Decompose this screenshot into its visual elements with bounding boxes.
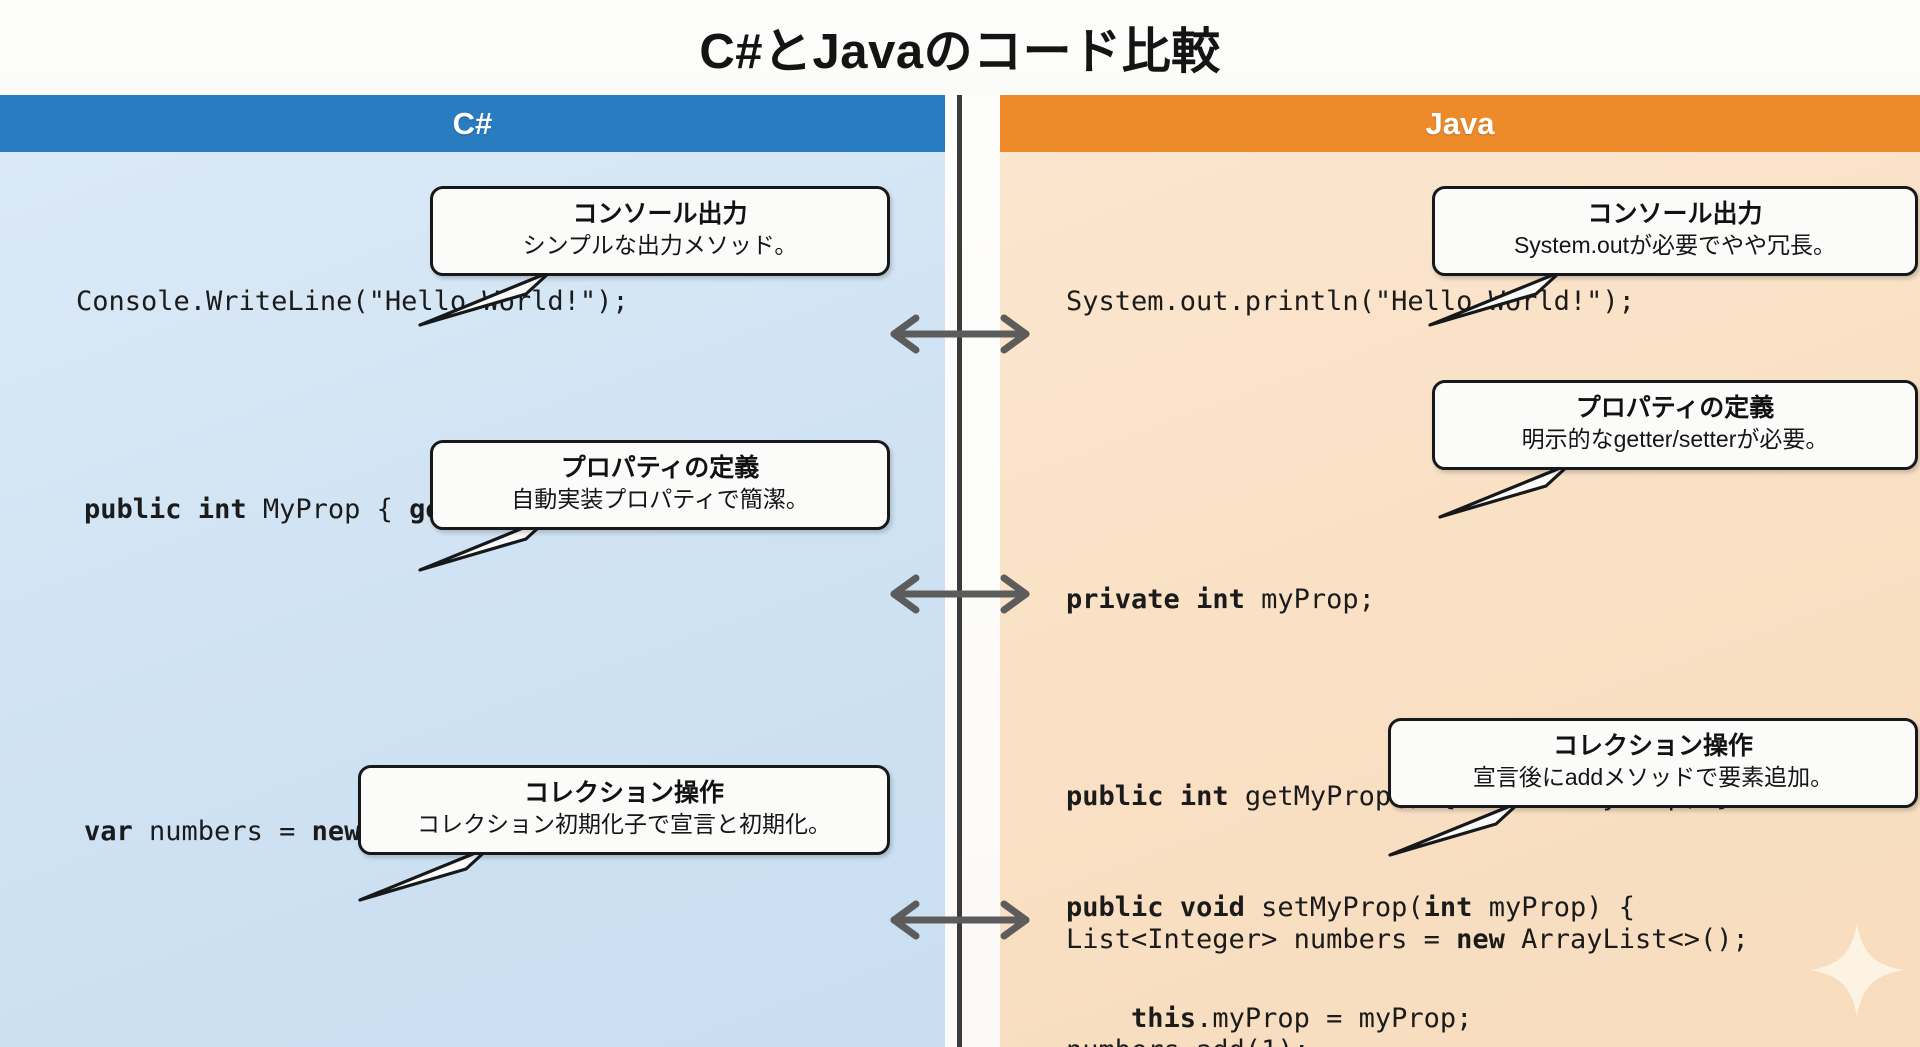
callout-tail-csharp-console xyxy=(400,270,590,330)
callout-csharp-property[interactable]: プロパティの定義 自動実装プロパティで簡潔。 xyxy=(430,440,890,530)
callout-desc: 自動実装プロパティで簡潔。 xyxy=(451,484,869,515)
sparkle-icon xyxy=(1802,915,1912,1025)
callout-title: コレクション操作 xyxy=(1409,730,1897,762)
callout-tail-java-property xyxy=(1420,462,1610,522)
panel-header-csharp: C# xyxy=(0,95,945,152)
panel-header-java: Java xyxy=(1000,95,1920,152)
code-line: List<Integer> numbers = new ArrayList<>(… xyxy=(1066,921,1749,958)
callout-desc: コレクション初期化子で宣言と初期化。 xyxy=(379,809,869,840)
bidirectional-arrow-property xyxy=(878,572,1042,616)
code-block-java-collection: List<Integer> numbers = new ArrayList<>(… xyxy=(1066,847,1749,1047)
callout-java-property[interactable]: プロパティの定義 明示的なgetter/setterが必要。 xyxy=(1432,380,1918,470)
slide-title-bar: C#とJavaのコード比較 xyxy=(0,0,1920,95)
callout-csharp-collection[interactable]: コレクション操作 コレクション初期化子で宣言と初期化。 xyxy=(358,765,890,855)
page-title: C#とJavaのコード比較 xyxy=(699,12,1220,83)
callout-desc: 宣言後にaddメソッドで要素追加。 xyxy=(1409,762,1897,793)
callout-desc: シンプルな出力メソッド。 xyxy=(451,230,869,261)
callout-csharp-console[interactable]: コンソール出力 シンプルな出力メソッド。 xyxy=(430,186,890,276)
callout-tail-java-collection xyxy=(1370,800,1560,860)
callout-title: コンソール出力 xyxy=(451,198,869,230)
callout-title: コンソール出力 xyxy=(1453,198,1897,230)
callout-desc: 明示的なgetter/setterが必要。 xyxy=(1453,424,1897,455)
callout-java-collection[interactable]: コレクション操作 宣言後にaddメソッドで要素追加。 xyxy=(1388,718,1918,808)
callout-title: プロパティの定義 xyxy=(451,452,869,484)
callout-tail-java-console xyxy=(1410,270,1600,330)
bidirectional-arrow-console xyxy=(878,312,1042,356)
code-line: numbers.add(1); xyxy=(1066,1032,1749,1047)
callout-title: コレクション操作 xyxy=(379,777,869,809)
callout-title: プロパティの定義 xyxy=(1453,392,1897,424)
code-line: private int myProp; xyxy=(1066,581,1733,618)
callout-desc: System.outが必要でやや冗長。 xyxy=(1453,230,1897,261)
slide-root: C#とJavaのコード比較 C# Console.WriteLine("Hell… xyxy=(0,0,1920,1047)
callout-java-console[interactable]: コンソール出力 System.outが必要でやや冗長。 xyxy=(1432,186,1918,276)
bidirectional-arrow-collection xyxy=(878,898,1042,942)
